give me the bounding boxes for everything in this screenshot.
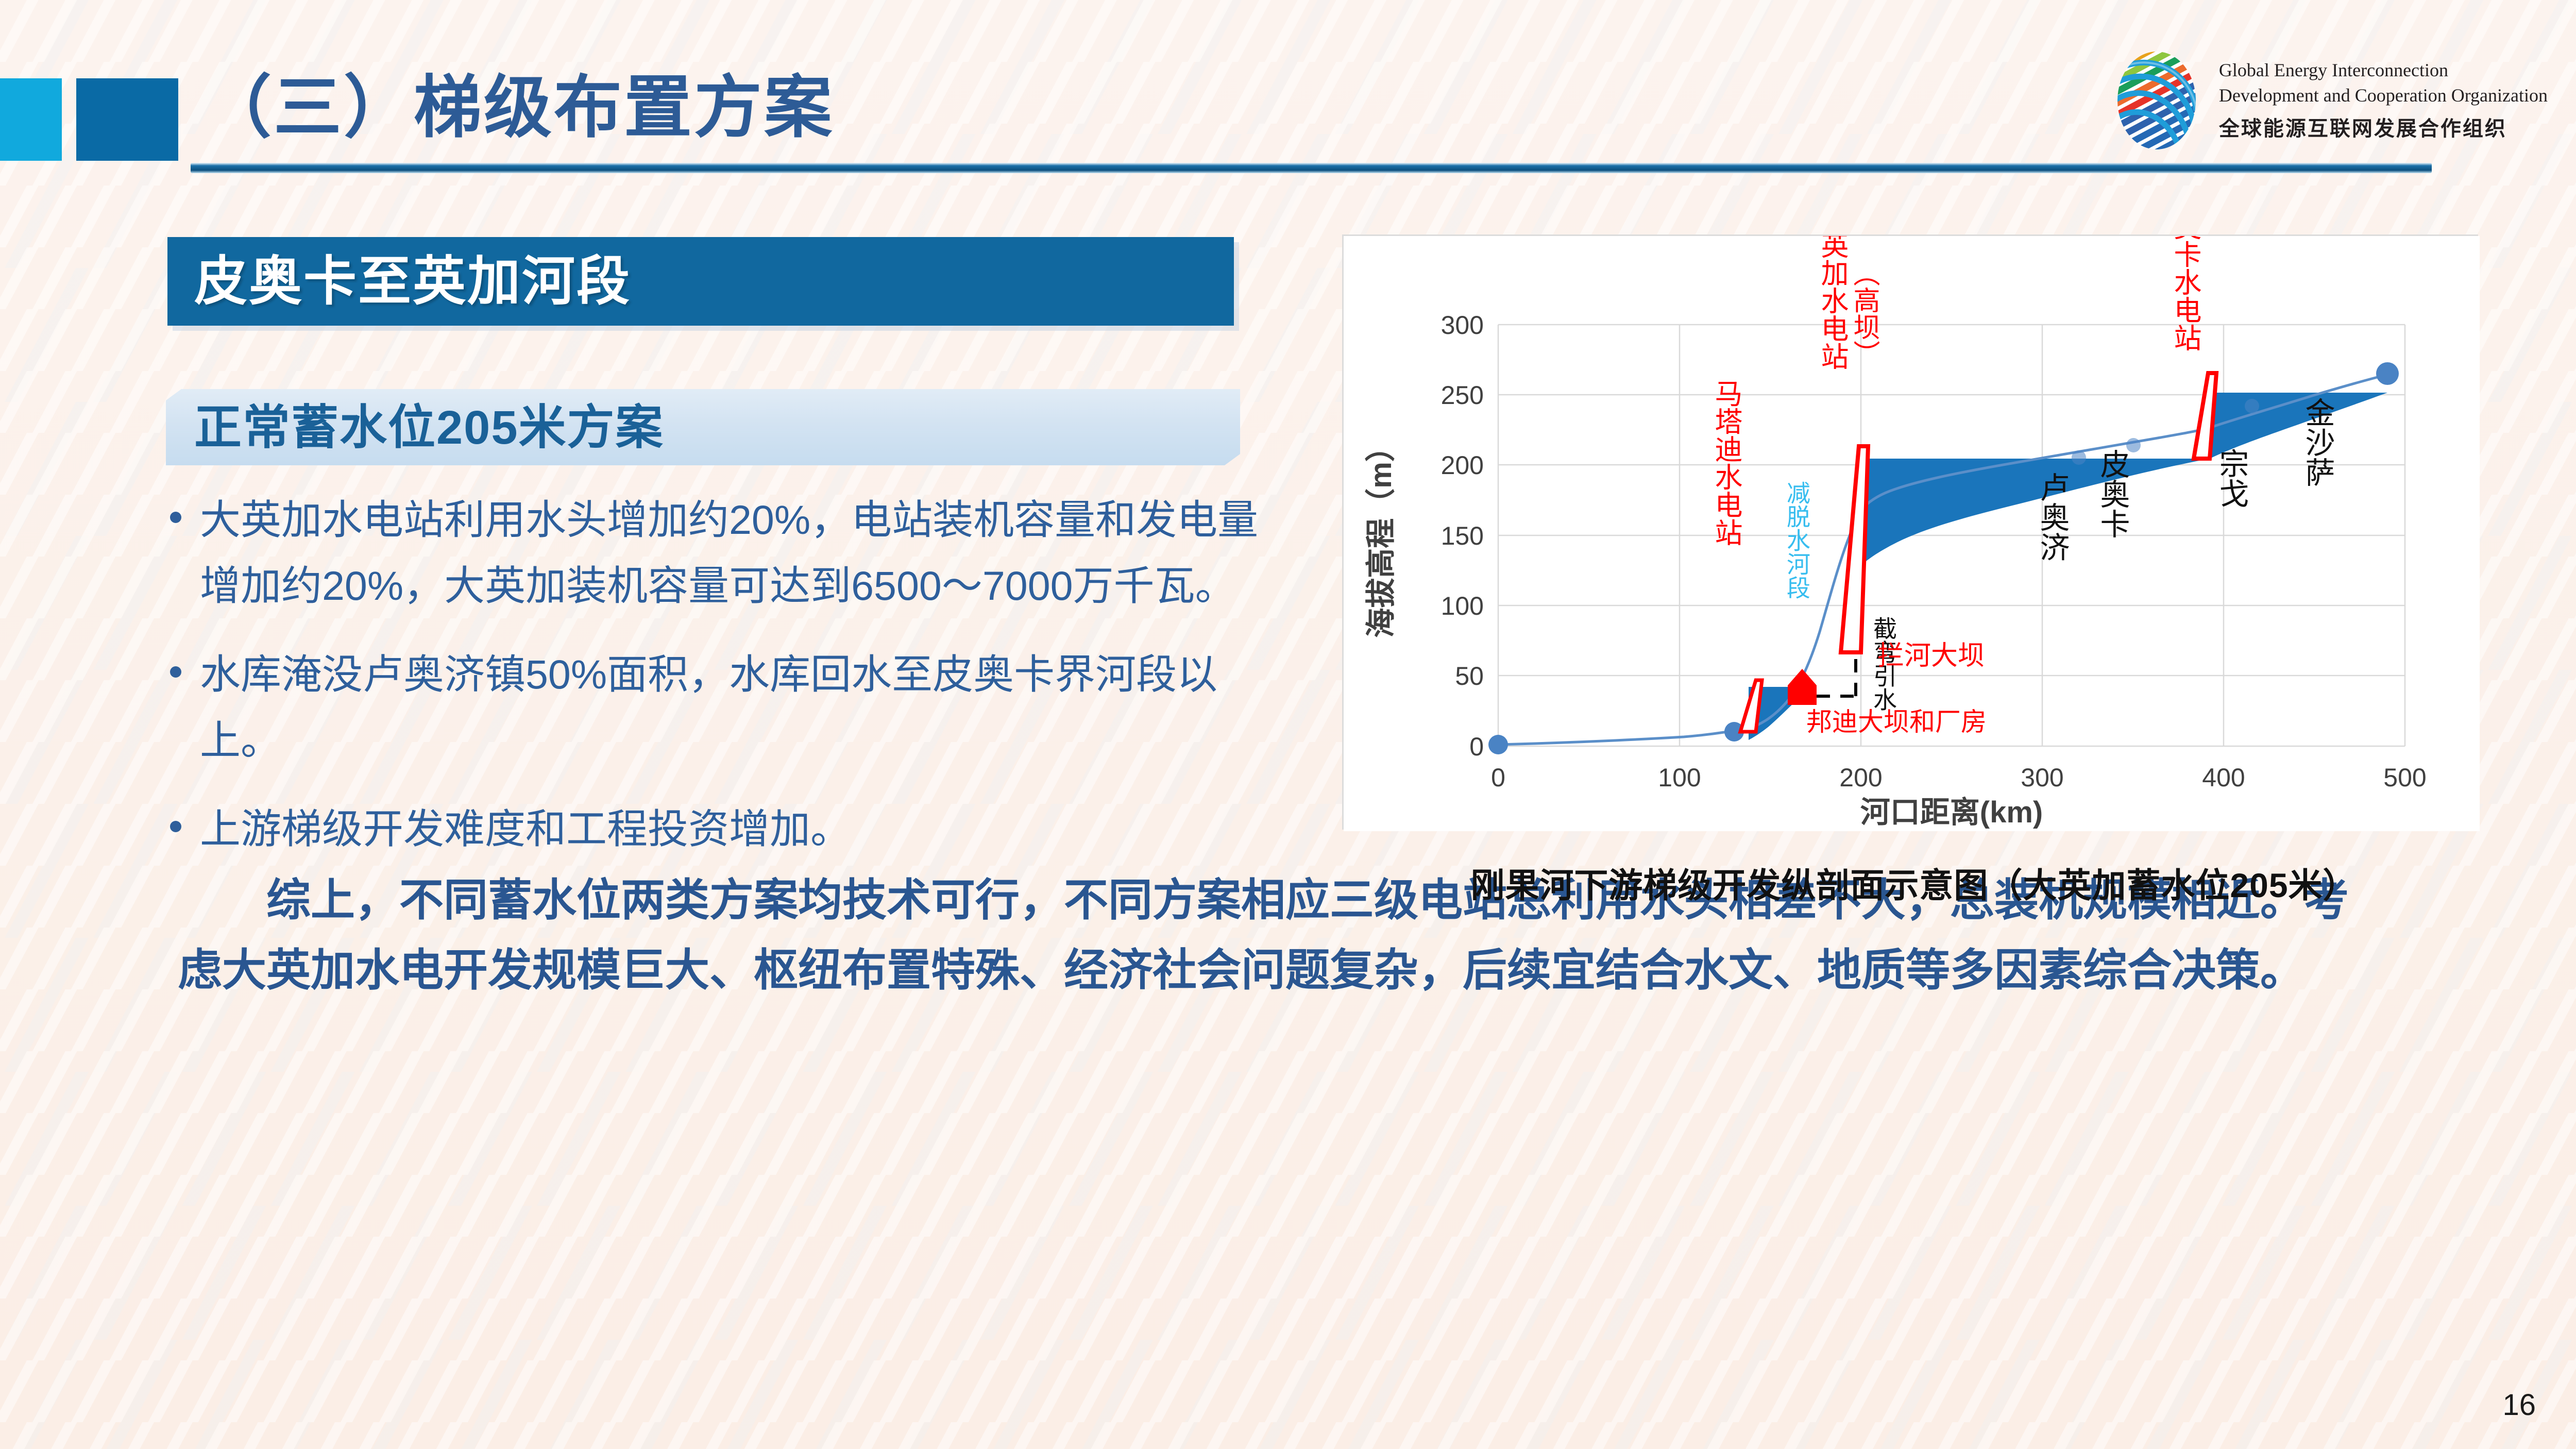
logo-chinese-name: 全球能源互联网发展合作组织 [2219, 112, 2548, 142]
accent-block-cyan [0, 78, 62, 161]
title-underline-rule [191, 163, 2432, 173]
subsection-banner-label: 正常蓄水位205米方案 [194, 399, 664, 456]
place-label-pioka: 皮奥卡 [2096, 449, 2130, 538]
svg-text:250: 250 [1441, 381, 1484, 410]
list-item: 大英加水电站利用水头增加约20%，电站装机容量和发电量增加约20%，大英加装机容… [170, 487, 1262, 619]
svg-text:300: 300 [2021, 763, 2063, 792]
chart-caption: 刚果河下游梯级开发纵剖面示意图（大英加蓄水位205米） [1342, 858, 2486, 907]
annotation-grand-inga-station: 大英加水电站 [1817, 236, 1848, 370]
chart-panel: 300 250 200 150 100 50 0 0 100 200 300 4… [1342, 234, 2478, 830]
svg-text:0: 0 [1469, 732, 1484, 761]
chart-ylabel: 海拔高程（m） [1364, 432, 1398, 638]
annotation-barrage-dam: 拦河大坝 [1877, 641, 1985, 671]
annotation-matadi-station: 马塔迪水电站 [1710, 379, 1742, 546]
place-label-kinshasa: 金沙萨 [2301, 397, 2335, 487]
globe-stripes-icon [2108, 49, 2206, 152]
svg-text:0: 0 [1491, 763, 1505, 792]
page-title: （三）梯级布置方案 [204, 74, 834, 142]
logo-english-line-1: Global Energy Interconnection [2219, 59, 2548, 82]
annotation-bondi-dam-powerhouse: 邦迪大坝和厂房 [1806, 707, 1987, 736]
svg-text:200: 200 [1839, 763, 1882, 792]
bullet-text: 上游梯级开发难度和工程投资增加。 [200, 796, 851, 862]
bullet-text: 大英加水电站利用水头增加约20%，电站装机容量和发电量增加约20%，大英加装机容… [200, 487, 1261, 619]
logo-english-line-2: Development and Cooperation Organization [2219, 85, 2548, 107]
svg-text:400: 400 [2202, 763, 2245, 792]
svg-text:500: 500 [2383, 763, 2426, 792]
annotation-grand-inga-highdam: （高坝） [1849, 260, 1879, 367]
section-banner: 皮奥卡至英加河段 [167, 237, 1234, 326]
list-item: 水库淹没卢奥济镇50%面积，水库回水至皮奥卡界河段以上。 [170, 642, 1262, 773]
svg-text:300: 300 [1441, 311, 1484, 340]
subsection-banner: 正常蓄水位205米方案 [166, 389, 1240, 465]
bullet-list: 大英加水电站利用水头增加约20%，电站装机容量和发电量增加约20%，大英加装机容… [170, 487, 1262, 885]
chart-xlabel: 河口距离(km) [1860, 796, 2043, 829]
list-item: 上游梯级开发难度和工程投资增加。 [170, 796, 1262, 862]
svg-text:100: 100 [1658, 763, 1701, 792]
bullet-dot-icon [170, 666, 181, 678]
place-label-zongo: 宗戈 [2215, 448, 2248, 508]
accent-block-blue [76, 78, 178, 161]
bullet-text: 水库淹没卢奥济镇50%面积，水库回水至皮奥卡界河段以上。 [200, 642, 1261, 773]
svg-text:200: 200 [1441, 451, 1484, 480]
bullet-dot-icon [170, 821, 181, 832]
svg-text:50: 50 [1455, 662, 1484, 690]
page-number: 16 [2502, 1388, 2536, 1422]
slide-header: （三）梯级布置方案 [0, 0, 2576, 186]
profile-chart: 300 250 200 150 100 50 0 0 100 200 300 4… [1344, 236, 2480, 831]
place-label-luozi: 卢奥济 [2036, 472, 2069, 562]
organization-logo: Global Energy Interconnection Developmen… [2108, 49, 2548, 152]
annotation-pioka-station: 皮奥卡水电站 [2170, 236, 2201, 351]
svg-text:100: 100 [1441, 592, 1484, 620]
section-banner-label: 皮奥卡至英加河段 [194, 249, 631, 313]
bullet-dot-icon [170, 512, 181, 523]
svg-text:150: 150 [1441, 521, 1484, 550]
annotation-dewatered-reach: 减脱水河段 [1784, 481, 1810, 599]
